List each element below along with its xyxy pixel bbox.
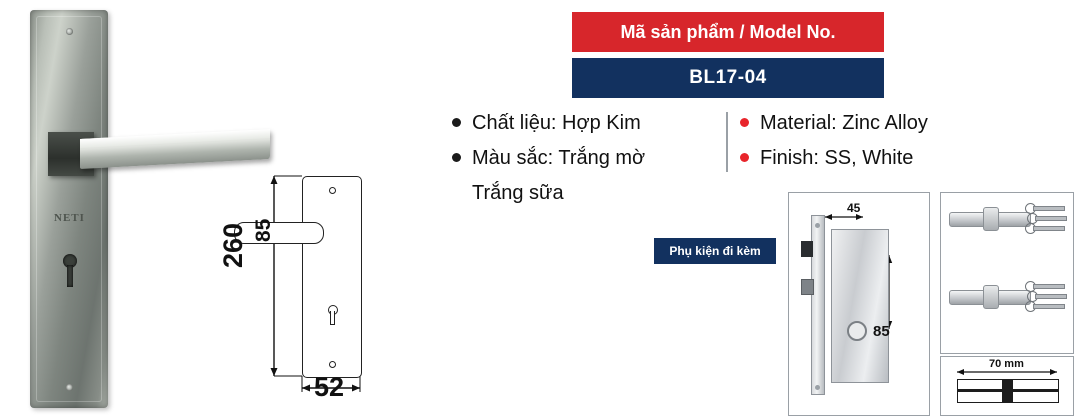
key-icon <box>1025 223 1065 231</box>
spec-color-vn: Màu sắc: Trắng mờ <box>472 145 720 172</box>
backplate-screw-top-icon <box>66 28 73 35</box>
bullet-icon <box>452 153 461 162</box>
mortise-center-label: 85 <box>873 323 890 340</box>
specs-vietnamese: Chất liệu: Hợp Kim Màu sắc: Trắng mờ Trắ… <box>452 110 720 207</box>
key-set-top <box>1025 201 1071 241</box>
key-icon <box>1027 291 1067 299</box>
cylinder-bottom <box>949 285 1029 307</box>
spec-row: Màu sắc: Trắng mờ <box>452 145 720 172</box>
mortise-deadbolt <box>801 241 813 257</box>
drawing-screw-hole-top <box>329 187 336 194</box>
specs-english: Material: Zinc Alloy Finish: SS, White <box>740 110 1020 180</box>
spec-row: Finish: SS, White <box>740 145 1020 172</box>
model-label-bar: Mã sản phẩm / Model No. <box>572 12 884 52</box>
accessory-cylinders-keys <box>940 192 1074 354</box>
bullet-icon <box>452 118 461 127</box>
brand-logo: NETI <box>54 212 85 224</box>
handle-backplate <box>30 10 108 408</box>
product-spec-sheet: NETI 260 <box>0 0 1086 420</box>
keyhole-icon <box>60 254 80 288</box>
spec-row: Material: Zinc Alloy <box>740 110 1020 137</box>
mortise-faceplate <box>811 215 825 395</box>
dimension-lever-85: 85 <box>252 219 276 242</box>
cylinder-outline <box>957 379 1059 403</box>
key-icon <box>1025 281 1065 289</box>
mortise-body <box>831 229 889 383</box>
model-number-bar: BL17-04 <box>572 58 884 98</box>
cylinder-top <box>949 207 1029 229</box>
mortise-screw-top-icon <box>815 223 820 228</box>
accessory-mortise-lock: 45 85 <box>788 192 930 416</box>
dimension-height-260: 260 <box>218 223 249 268</box>
backplate-inner-bevel <box>36 16 102 402</box>
bullet-icon <box>740 118 749 127</box>
drawing-screw-hole-bottom <box>329 361 336 368</box>
drawing-backplate-outline <box>302 176 362 378</box>
cylinder-length-label: 70 mm <box>989 358 1024 370</box>
specs-divider <box>726 112 728 172</box>
spec-material-en: Material: Zinc Alloy <box>760 110 1020 137</box>
handle-product-photo: NETI <box>18 6 128 412</box>
key-set-bottom <box>1025 279 1071 319</box>
mortise-cylinder-hole <box>847 321 867 341</box>
accessory-cylinder-dimension: 70 mm <box>940 356 1074 416</box>
spec-row: Chất liệu: Hợp Kim <box>452 110 720 137</box>
key-icon <box>1025 301 1065 309</box>
mortise-latch <box>801 279 814 295</box>
spec-color-vn-continuation: Trắng sữa <box>472 180 720 207</box>
drawing-keyhole-icon <box>327 305 337 325</box>
bullet-icon <box>740 153 749 162</box>
spec-material-vn: Chất liệu: Hợp Kim <box>472 110 720 137</box>
accessories-label: Phụ kiện đi kèm <box>654 238 776 264</box>
key-icon <box>1025 203 1065 211</box>
spec-finish-en: Finish: SS, White <box>760 145 1020 172</box>
key-icon <box>1027 213 1067 221</box>
mortise-screw-bottom-icon <box>815 385 820 390</box>
mortise-backset-label: 45 <box>847 201 860 215</box>
backplate-screw-bottom-icon <box>66 384 73 391</box>
dimension-width-52: 52 <box>314 372 344 403</box>
technical-drawing: 260 85 52 <box>222 160 462 410</box>
